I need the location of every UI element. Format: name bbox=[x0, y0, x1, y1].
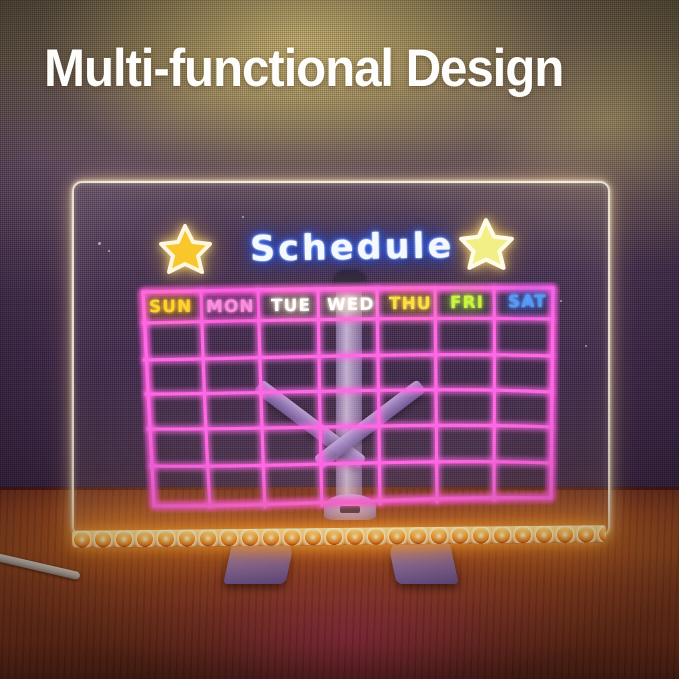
product-photo-scene: Schedule bbox=[0, 0, 679, 679]
scene-vignette bbox=[0, 0, 679, 679]
headline-container: Multi-functional Design bbox=[44, 38, 644, 99]
page-title: Multi-functional Design bbox=[44, 38, 602, 99]
